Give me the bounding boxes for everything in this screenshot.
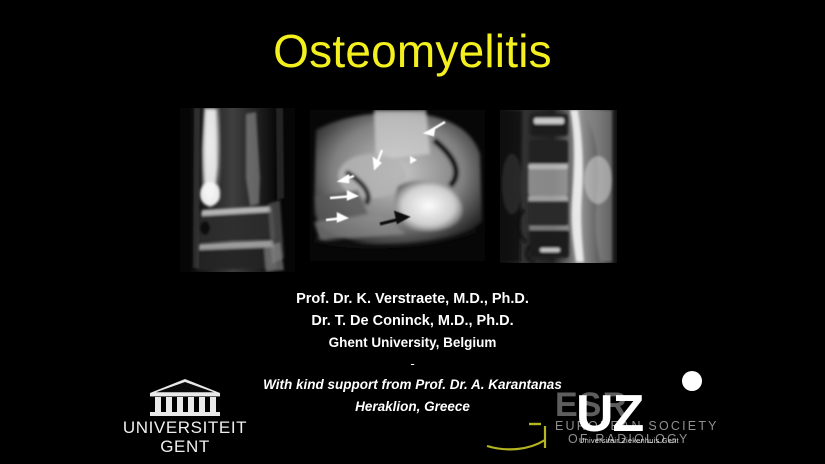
uz-wordmark: UZ	[576, 388, 643, 440]
yellow-curve-mark	[485, 418, 565, 458]
ugent-logo-line-2: GENT	[112, 437, 258, 456]
white-dot-decoration	[682, 371, 702, 391]
page-title: Osteomyelitis	[0, 22, 825, 80]
mri-coronal-ankle-image	[180, 108, 295, 272]
credit-separator: -	[0, 354, 825, 374]
credit-author-2: Dr. T. De Coninck, M.D., Ph.D.	[0, 310, 825, 332]
uz-gent-logo: UZ Universitair Ziekenhuis Gent	[576, 388, 696, 450]
credit-affiliation: Ghent University, Belgium	[0, 332, 825, 354]
mri-sagittal-foot-graphic	[310, 110, 485, 261]
ugent-logo-line-1: UNIVERSITEIT	[112, 418, 258, 437]
mri-sagittal-spine-image	[500, 110, 617, 263]
ghent-university-logo: UNIVERSITEIT GENT	[112, 378, 258, 460]
mri-sagittal-spine-graphic	[500, 110, 617, 263]
credit-author-1: Prof. Dr. K. Verstraete, M.D., Ph.D.	[0, 288, 825, 310]
presentation-slide: Osteomyelitis	[0, 0, 825, 464]
uz-subtitle: Universitair Ziekenhuis Gent	[579, 436, 679, 445]
mri-sagittal-foot-image	[310, 110, 485, 261]
mri-coronal-ankle-graphic	[180, 108, 295, 272]
greek-temple-icon	[148, 378, 222, 418]
